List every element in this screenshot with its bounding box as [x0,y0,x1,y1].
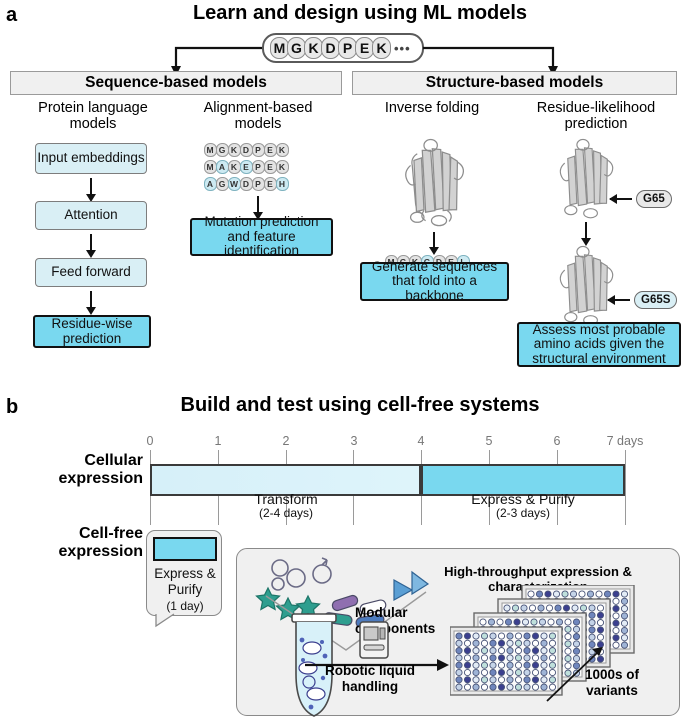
phase-duration: (2-3 days) [452,507,594,521]
phase-label-express-purify: Express & Purify (2-3 days) [452,491,594,521]
axis-tick-mark [625,450,626,525]
panel-a-title: Learn and design using ML models [60,2,660,25]
residue-tag-g65s: G65S [634,291,677,309]
header-sequence-based: Sequence-based models [10,71,342,95]
phase-duration: (2-4 days) [215,507,357,521]
aln-cell: A [204,177,217,191]
axis-tick-4: 4 [406,434,436,448]
inverse-folding-result: Generate sequences that fold into a back… [360,262,509,301]
aln-cell: P [252,160,265,174]
aln-cell: K [228,160,241,174]
variants-text: 1000s of variants [585,667,639,698]
axis-tick-7-days: 7 days [598,434,652,448]
alignment-result: Mutation prediction and feature identifi… [190,218,333,256]
bar-express-purify-cellfree [153,537,217,561]
plm-step-feed-forward: Feed forward [35,258,147,287]
column-title-alignment-based-models: Alignment-based models [182,101,334,132]
aln-cell: D [240,177,253,191]
plm-step-input-embeddings: Input embeddings [35,143,147,174]
annotation-arrow [610,198,632,200]
aln-cell: P [252,177,265,191]
aln-cell: G [216,177,229,191]
arrow-down [90,291,92,308]
annotation-arrow [608,299,630,301]
row-label-cellular-expression: Cellular expression [28,452,143,488]
phase-name: Transform [215,491,357,507]
axis-tick-2: 2 [271,434,301,448]
aln-cell: E [240,160,253,174]
aln-cell: P [252,143,265,157]
plm-result: Residue-wise prediction [33,315,151,348]
aln-cell: E [264,160,277,174]
aln-cell: W [228,177,241,191]
cellfree-phase-name: Express & Purify [154,566,216,597]
aln-cell: G [216,143,229,157]
panel-a-letter: a [6,4,17,27]
alignment-row: MAKEPEK [204,158,288,176]
protein-ribbon-icon [548,137,624,221]
branch-connectors [0,30,685,110]
arrow-down [90,234,92,251]
axis-tick-0: 0 [135,434,165,448]
column-title-inverse-folding: Inverse folding [362,101,502,117]
axis-tick-5: 5 [474,434,504,448]
aln-cell: A [216,160,229,174]
phase-label-transform: Transform (2-4 days) [215,491,357,521]
callout-pointer [150,612,210,652]
aln-cell: M [204,143,217,157]
cell-free-callout: Express & Purify (1 day) [146,530,222,616]
aln-cell: E [264,177,277,191]
arrow-down [90,178,92,195]
aln-cell: K [228,143,241,157]
plm-step-attention: Attention [35,201,147,230]
row-label-cell-free-expression: Cell-free expression [18,525,143,561]
axis-tick-6: 6 [542,434,572,448]
column-title-protein-language-models: Protein language models [14,101,172,132]
arrow-down [585,222,587,239]
residue-likelihood-result: Assess most probable amino acids given t… [517,322,681,367]
panel-b-title: Build and test using cell-free systems [60,394,660,417]
header-structure-based: Structure-based models [352,71,677,95]
axis-tick-1: 1 [203,434,233,448]
robotic-handling-label: Robotic liquid handling [300,663,440,694]
aln-cell: D [240,143,253,157]
protein-ribbon-icon [392,137,476,229]
phase-name: Express & Purify [452,491,594,507]
arrow-down [433,232,435,248]
residue-tag-g65: G65 [636,190,672,208]
axis-tick-3: 3 [339,434,369,448]
alignment-row: MGKDPEK [204,141,288,159]
protein-ribbon-icon [548,244,624,328]
aln-cell: E [264,143,277,157]
variants-label: 1000s of variants [562,667,662,698]
column-title-residue-likelihood: Residue-likelihood prediction [512,101,680,132]
panel-b-letter: b [6,396,18,419]
cellfree-phase-duration: (1 day) [166,599,203,613]
aln-cell: K [276,143,289,157]
aln-cell: K [276,160,289,174]
arrow-down [257,196,259,213]
alignment-row: AGWDPEH [204,175,288,193]
aln-cell: M [204,160,217,174]
robotic-handling-text: Robotic liquid handling [325,663,415,694]
aln-cell: H [276,177,289,191]
